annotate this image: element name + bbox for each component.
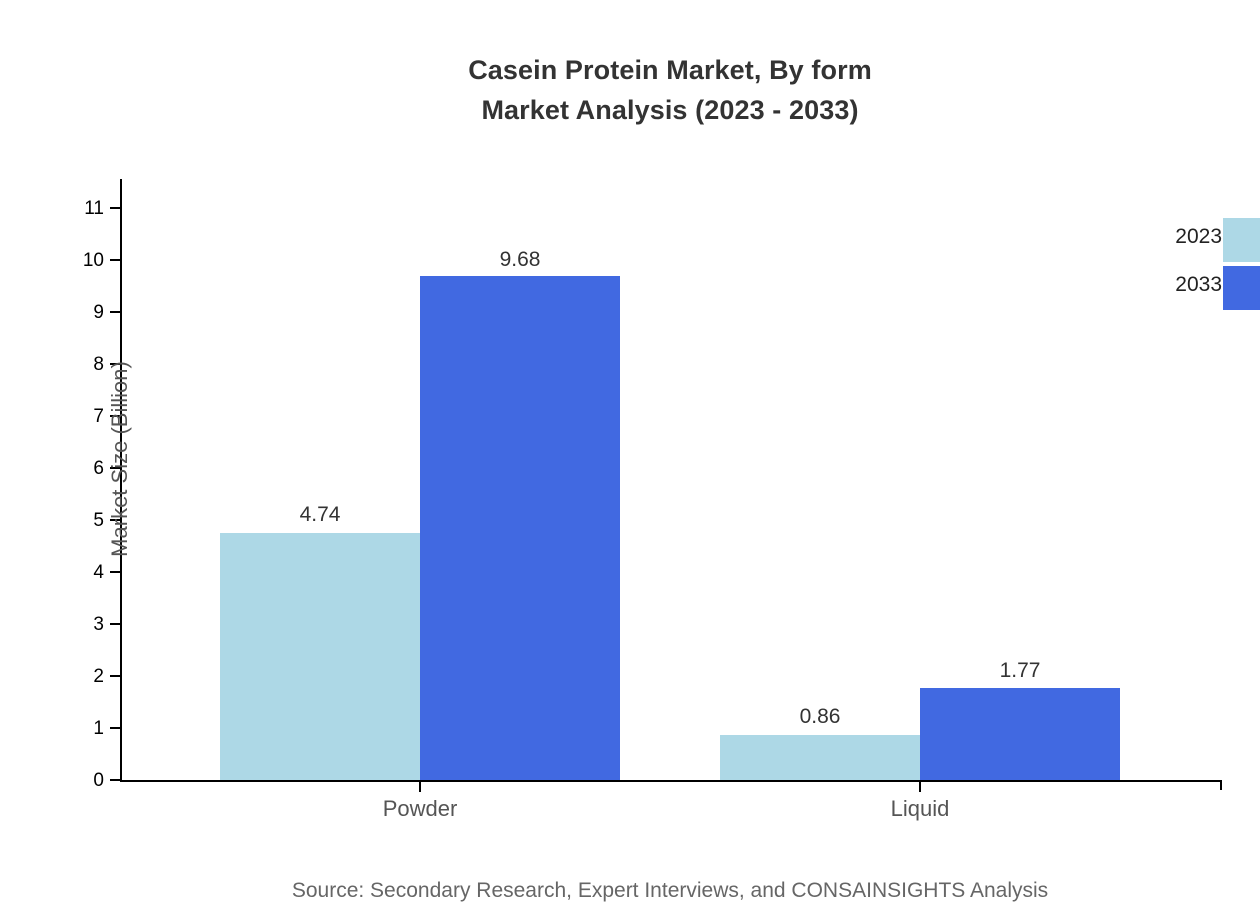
y-tick-label-5: 5 bbox=[72, 511, 104, 530]
x-tick-powder bbox=[419, 782, 421, 792]
bar-powder-2033[interactable] bbox=[420, 276, 620, 780]
x-category-label-liquid: Liquid bbox=[820, 797, 1020, 821]
y-tick-label-11: 11 bbox=[72, 199, 104, 218]
x-category-label-powder: Powder bbox=[320, 797, 520, 821]
chart-figure: Casein Protein Market, By form Market An… bbox=[0, 0, 1260, 920]
chart-title: Casein Protein Market, By form Market An… bbox=[0, 50, 1260, 130]
y-tick-label-0: 0 bbox=[72, 771, 104, 790]
y-tick-label-9: 9 bbox=[72, 303, 104, 322]
y-tick-label-4: 4 bbox=[72, 563, 104, 582]
y-tick-label-10: 10 bbox=[72, 251, 104, 270]
bar-value-liquid-2033: 1.77 bbox=[920, 660, 1120, 681]
legend-swatch-2033 bbox=[1223, 266, 1260, 310]
chart-title-line-1: Casein Protein Market, By form bbox=[0, 50, 1260, 90]
x-axis-end-tick bbox=[1220, 780, 1222, 790]
chart-title-line-2: Market Analysis (2023 - 2033) bbox=[0, 90, 1260, 130]
x-tick-liquid bbox=[919, 782, 921, 792]
y-tick-label-2: 2 bbox=[72, 667, 104, 686]
bar-value-powder-2033: 9.68 bbox=[420, 249, 620, 270]
plot-area: 0 1 2 3 4 5 6 7 8 9 10 11 4.74 9.68 0.86 bbox=[122, 179, 1222, 780]
legend-label-2023: 2023 bbox=[1175, 226, 1222, 248]
x-axis-spine bbox=[120, 780, 1222, 782]
legend-label-2033: 2033 bbox=[1175, 274, 1222, 296]
y-tick-label-1: 1 bbox=[72, 719, 104, 738]
chart-legend: 2023 2033 bbox=[1130, 218, 1260, 314]
bar-powder-2023[interactable] bbox=[220, 533, 420, 780]
bar-value-liquid-2023: 0.86 bbox=[720, 706, 920, 727]
y-axis-title: Market Size (Billion) bbox=[108, 179, 132, 739]
legend-item-2033[interactable]: 2033 bbox=[1130, 266, 1260, 314]
y-tick-label-3: 3 bbox=[72, 615, 104, 634]
legend-item-2023[interactable]: 2023 bbox=[1130, 218, 1260, 266]
bar-value-powder-2023: 4.74 bbox=[220, 504, 420, 525]
y-tick-label-6: 6 bbox=[72, 459, 104, 478]
y-tick-label-7: 7 bbox=[72, 407, 104, 426]
source-note: Source: Secondary Research, Expert Inter… bbox=[0, 879, 1260, 903]
y-tick-0 bbox=[110, 779, 122, 781]
bar-liquid-2023[interactable] bbox=[720, 735, 920, 780]
y-tick-label-8: 8 bbox=[72, 355, 104, 374]
bar-liquid-2033[interactable] bbox=[920, 688, 1120, 780]
legend-swatch-2023 bbox=[1223, 218, 1260, 262]
